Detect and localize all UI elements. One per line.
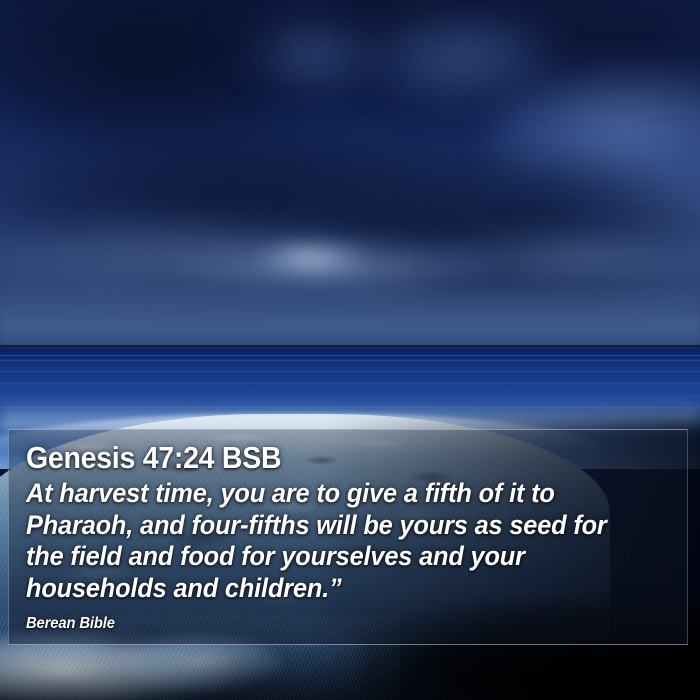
horizon-haze	[0, 282, 700, 350]
cloud-band	[430, 228, 700, 288]
storm-cloud-dark	[470, 0, 700, 130]
cloud-break-glow	[255, 240, 365, 276]
storm-cloud-light	[560, 150, 700, 280]
bottom-vignette	[0, 640, 700, 700]
storm-cloud-light	[250, 20, 380, 90]
storm-cloud-dark	[0, 0, 360, 150]
night-sky-background	[0, 0, 700, 350]
storm-cloud-light	[360, 10, 560, 105]
storm-cloud-dark	[0, 120, 480, 290]
storm-cloud-light	[490, 70, 700, 210]
verse-source-attribution: Berean Bible	[26, 614, 639, 633]
verse-overlay-panel: Genesis 47:24 BSB At harvest time, you a…	[8, 429, 688, 645]
storm-cloud-dark	[230, 0, 630, 130]
verse-reference: Genesis 47:24 BSB	[26, 440, 619, 476]
verse-image-card: Genesis 47:24 BSB At harvest time, you a…	[0, 0, 700, 700]
verse-body-text: At harvest time, you are to give a fifth…	[26, 478, 642, 604]
